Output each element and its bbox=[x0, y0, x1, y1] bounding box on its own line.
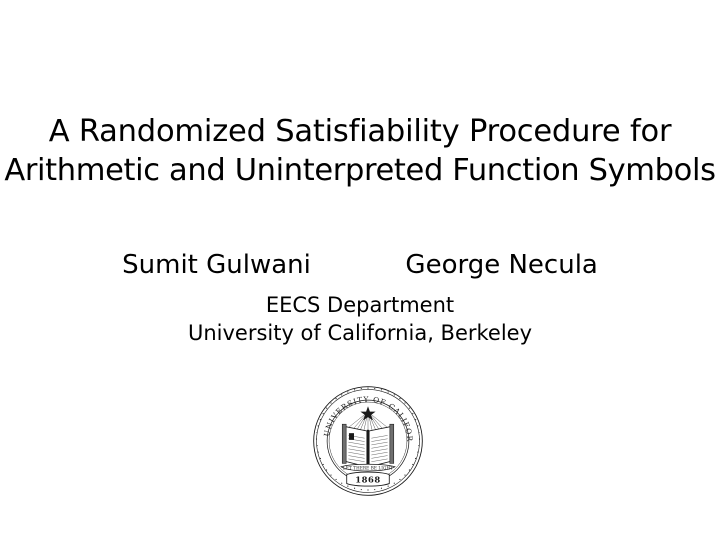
seal-graphic: · THE UNIVERSITY OF CALIFORNIA · · · · bbox=[312, 385, 424, 497]
author-name-primary: Sumit Gulwani bbox=[122, 249, 311, 282]
affiliation-department: EECS Department bbox=[0, 291, 720, 319]
seal-ribbon: LET THERE BE LIGHT bbox=[341, 464, 395, 471]
affiliation-university: University of California, Berkeley bbox=[0, 319, 720, 347]
seal-year: 1868 bbox=[355, 474, 381, 484]
author-name-secondary: George Necula bbox=[405, 249, 597, 282]
affiliation-block: EECS Department University of California… bbox=[0, 291, 720, 347]
title-line-1: A Randomized Satisfiability Procedure fo… bbox=[0, 112, 720, 151]
authors-row: Sumit Gulwani George Necula bbox=[0, 249, 720, 282]
page-title: A Randomized Satisfiability Procedure fo… bbox=[0, 112, 720, 190]
uc-berkeley-seal-icon: · THE UNIVERSITY OF CALIFORNIA · · · · bbox=[312, 385, 424, 497]
title-slide: A Randomized Satisfiability Procedure fo… bbox=[0, 0, 720, 540]
seal-motto: LET THERE BE LIGHT bbox=[343, 466, 393, 471]
seal-year-cartouche: 1868 bbox=[347, 472, 390, 486]
title-line-2: Arithmetic and Uninterpreted Function Sy… bbox=[0, 151, 720, 190]
seal-book-icon bbox=[342, 424, 394, 467]
